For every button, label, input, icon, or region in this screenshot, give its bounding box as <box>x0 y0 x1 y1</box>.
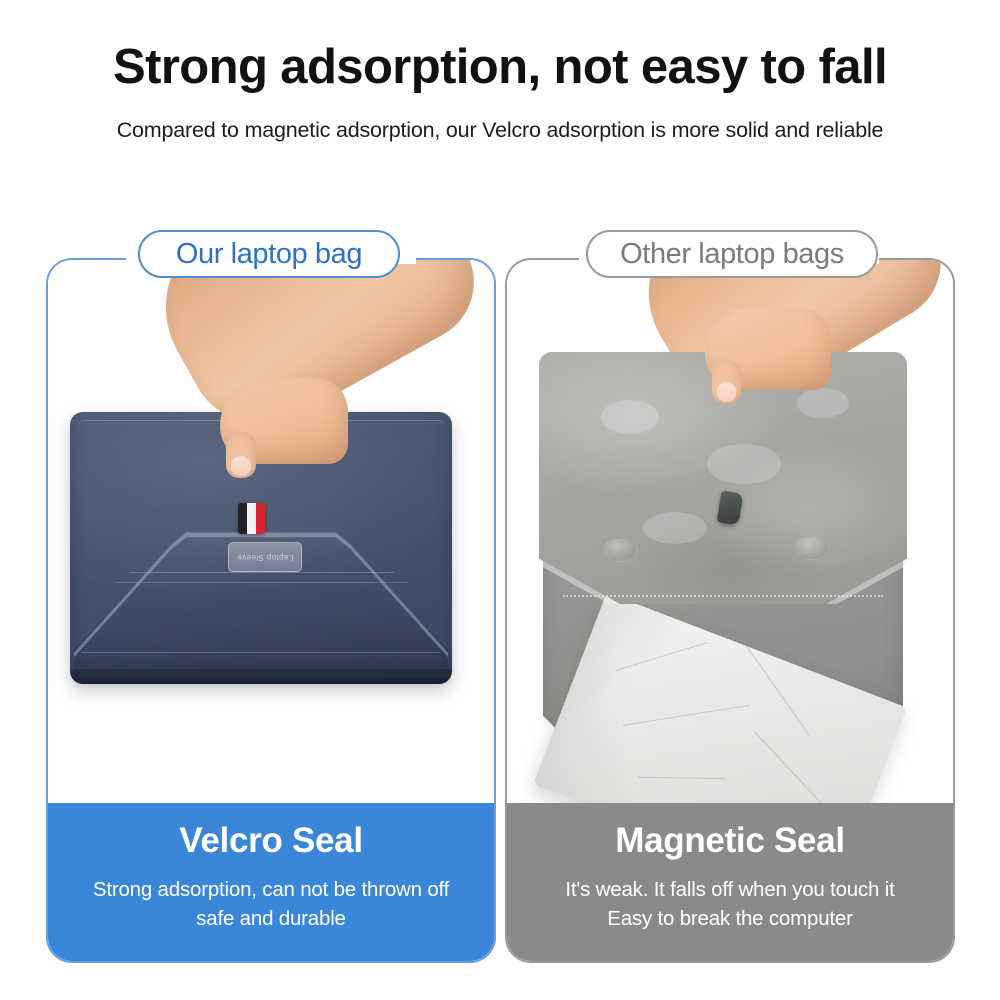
caption-desc-line-2: Easy to break the computer <box>565 904 894 933</box>
gray-sleeve-snap-right <box>795 536 829 560</box>
flag-stripe-black <box>238 503 247 534</box>
laptop-scratch <box>623 705 750 726</box>
navy-bag-stitch-line-3 <box>82 652 440 653</box>
badge-our-laptop-bag-label: Our laptop bag <box>176 238 362 271</box>
comparison-infographic: Strong adsorption, not easy to fall Comp… <box>0 0 1000 1000</box>
suede-texture-fleck <box>643 512 707 544</box>
tricolor-flag-tab-icon <box>238 503 265 534</box>
page-subheadline: Compared to magnetic adsorption, our Vel… <box>0 118 1000 143</box>
badge-our-laptop-bag: Our laptop bag <box>138 230 400 278</box>
caption-bar-others: Magnetic Seal It's weak. It falls off wh… <box>507 803 953 961</box>
gray-sleeve-snap-left <box>603 538 637 562</box>
caption-desc-line-1: Strong adsorption, can not be thrown off <box>93 875 449 904</box>
comparison-panel-ours: Laptop Sleeve Velcro Seal Strong adsorpt… <box>46 258 496 963</box>
navy-bag-brand-label-text: Laptop Sleeve <box>237 553 293 562</box>
fingernail-right <box>717 382 736 402</box>
caption-title-others: Magnetic Seal <box>615 819 845 863</box>
suede-texture-fleck <box>601 400 659 434</box>
fingernail-left <box>231 456 251 476</box>
caption-bar-ours: Velcro Seal Strong adsorption, can not b… <box>48 803 494 961</box>
suede-texture-fleck <box>707 444 781 484</box>
navy-bag-brand-label: Laptop Sleeve <box>228 542 302 572</box>
flag-stripe-white <box>247 503 256 534</box>
laptop-scratch <box>615 642 707 671</box>
comparison-panel-others: Magnetic Seal It's weak. It falls off wh… <box>505 258 955 963</box>
caption-description-others: It's weak. It falls off when you touch i… <box>565 875 894 933</box>
caption-desc-line-2: safe and durable <box>93 904 449 933</box>
badge-other-laptop-bags: Other laptop bags <box>586 230 878 278</box>
navy-bag-stitch-line-2 <box>116 582 408 583</box>
laptop-scratch <box>637 777 725 780</box>
caption-desc-line-1: It's weak. It falls off when you touch i… <box>565 875 894 904</box>
navy-bag-stitch-line-1 <box>130 572 394 573</box>
caption-description-ours: Strong adsorption, can not be thrown off… <box>93 875 449 933</box>
suede-texture-fleck <box>797 388 849 418</box>
caption-title-ours: Velcro Seal <box>179 819 363 863</box>
gray-sleeve-stitching <box>563 595 883 597</box>
badge-other-laptop-bags-label: Other laptop bags <box>620 238 844 271</box>
page-headline: Strong adsorption, not easy to fall <box>0 42 1000 93</box>
flag-stripe-red <box>256 503 265 534</box>
